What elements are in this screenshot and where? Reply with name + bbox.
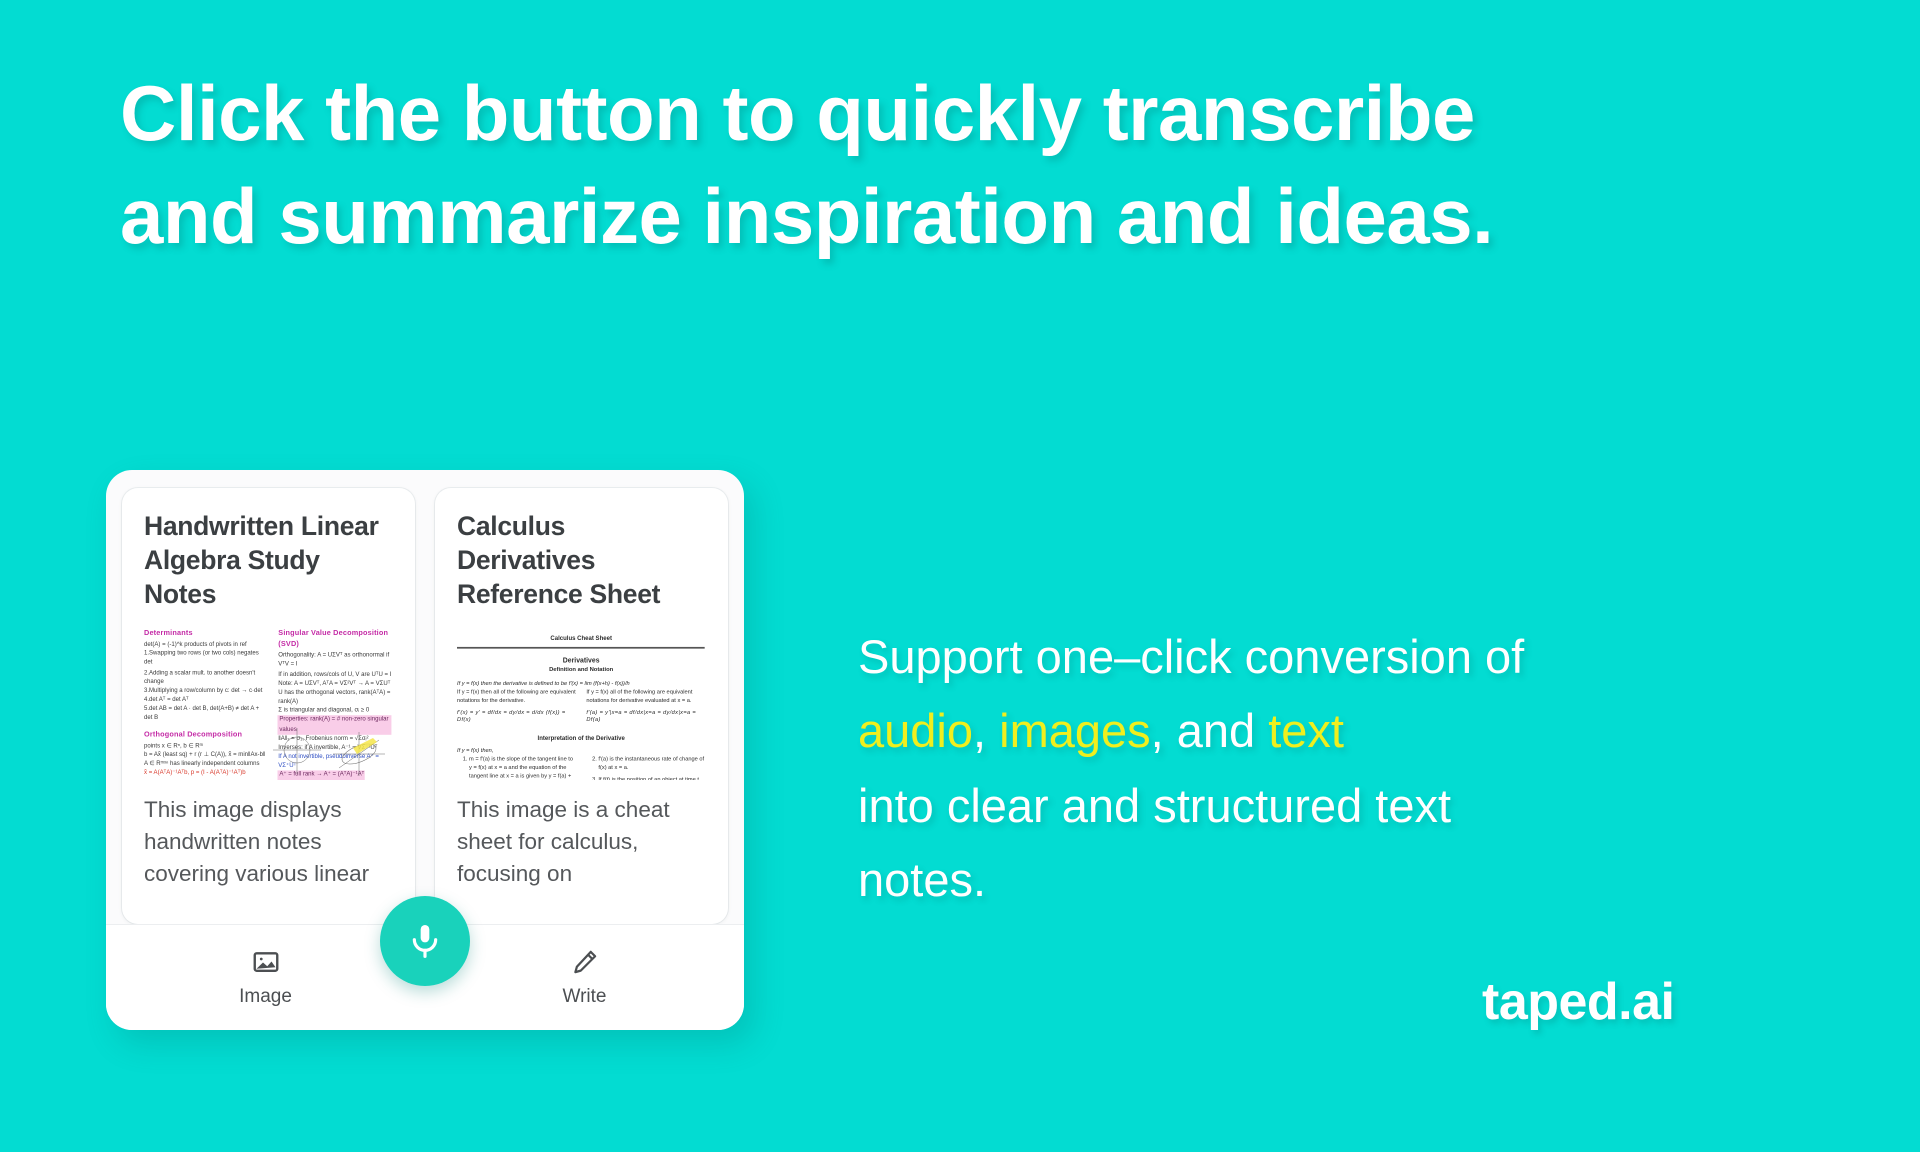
cs-subsection: Definition and Notation xyxy=(457,666,705,675)
calculus-cheat-sheet-thumbnail: Calculus Cheat Sheet Derivatives Definit… xyxy=(457,628,706,780)
axes-sketch-icon xyxy=(269,724,389,778)
copy-line-4: notes. xyxy=(858,843,1798,917)
hw-line: 3.Multiplying a row/column by c: det → c… xyxy=(144,686,268,695)
microphone-icon xyxy=(405,921,445,961)
hw-line: 1.Swapping two rows (or two cols) negate… xyxy=(144,649,268,667)
headline-line-2: and summarize inspiration and ideas. xyxy=(120,165,1840,268)
cs-interpretation-item: If f(t) is the position of an object at … xyxy=(598,775,705,779)
hw-line: 4.det Aᵀ = det Aᵀ xyxy=(144,695,268,704)
hw-heading: Determinants xyxy=(144,628,268,639)
image-button[interactable]: Image xyxy=(106,947,425,1008)
hw-line: U has the orthogonal vectors, rank(AᵀA) … xyxy=(278,688,392,706)
brand-logo: taped.ai xyxy=(1482,972,1675,1032)
headline-line-1: Click the button to quickly transcribe xyxy=(120,62,1840,165)
copy-sep-1: , xyxy=(973,704,999,757)
write-button-label: Write xyxy=(563,986,607,1008)
copy-line-1: Support one–click conversion of xyxy=(858,620,1798,694)
note-card-body: This image displays handwritten notes co… xyxy=(144,794,393,890)
microphone-record-button[interactable] xyxy=(380,896,470,986)
copy-sep-2: , and xyxy=(1151,704,1269,757)
cs-interpretation-item: m = f'(a) is the slope of the tangent li… xyxy=(469,756,576,780)
highlight-text: text xyxy=(1268,704,1344,757)
cs-equiv-label: If y = f(x) then all of the following ar… xyxy=(457,688,576,705)
note-card[interactable]: Calculus Derivatives Reference Sheet Cal… xyxy=(435,488,728,924)
image-icon xyxy=(251,947,281,977)
app-mockup: Handwritten Linear Algebra Study Notes D… xyxy=(106,470,744,1030)
image-button-label: Image xyxy=(239,986,292,1008)
marketing-copy: Support one–click conversion of audio, i… xyxy=(858,620,1798,917)
hw-heading: Singular Value Decomposition (SVD) xyxy=(278,628,392,650)
cs-definition: If y = f(x) then the derivative is defin… xyxy=(457,680,705,688)
handwritten-linear-algebra-thumbnail: Determinants det(A) = (-1)^k products of… xyxy=(144,628,393,780)
cs-interpretation-list: f'(a) is the instantaneous rate of chang… xyxy=(586,756,705,780)
note-card-title: Calculus Derivatives Reference Sheet xyxy=(457,510,706,612)
hw-line: points x ∈ Rⁿ, b ∈ Rᵐ xyxy=(144,742,268,751)
cs-interpretation-intro: If y = f(x) then, xyxy=(457,747,705,755)
hw-line: A ∈ Rᵐˣⁿ has linearly independent column… xyxy=(144,760,268,769)
highlight-images: images xyxy=(999,704,1151,757)
note-card-title: Handwritten Linear Algebra Study Notes xyxy=(144,510,393,612)
cs-equiv-label: If y = f(x) all of the following are equ… xyxy=(586,688,705,705)
highlight-audio: audio xyxy=(858,704,973,757)
cs-interpretation-item: f'(a) is the instantaneous rate of chang… xyxy=(598,756,705,773)
cs-sheet-title: Calculus Cheat Sheet xyxy=(457,635,705,648)
hw-line: If in addition, rows/cols of U, V are Uᵀ… xyxy=(278,670,392,679)
hw-line: det(A) = (-1)^k products of pivots in re… xyxy=(144,640,268,649)
hw-line: 5.det AB = det A · det B, det(A+B) ≠ det… xyxy=(144,705,268,723)
note-card[interactable]: Handwritten Linear Algebra Study Notes D… xyxy=(122,488,415,924)
cs-section: Derivatives xyxy=(457,655,705,665)
hw-line: 2.Adding a scalar mult. to another doesn… xyxy=(144,668,268,686)
hw-line: Σ is triangular and diagonal, σᵢ ≥ 0 xyxy=(278,707,392,716)
note-card-body: This image is a cheat sheet for calculus… xyxy=(457,794,706,890)
hw-line: Orthogonality: A = UΣVᵀ as orthonormal i… xyxy=(278,651,392,669)
hw-line: projection matrix onto C(A): P = A(AᵀA)⁻… xyxy=(144,778,268,779)
copy-line-2: audio, images, and text xyxy=(858,694,1798,768)
hw-line: Note: A = UΣVᵀ, AᵀA = VΣ²Vᵀ → A = VΣUᵀ xyxy=(278,679,392,688)
note-cards-area: Handwritten Linear Algebra Study Notes D… xyxy=(106,470,744,924)
cs-equiv-formula: f'(a) = y'|x=a = df/dx|x=a = dy/dx|x=a =… xyxy=(586,708,705,725)
copy-line-3: into clear and structured text xyxy=(858,769,1798,843)
cs-equiv-formula: f'(x) = y' = df/dx = dy/dx = d/dx (f(x))… xyxy=(457,708,576,725)
hw-line: x̂ = A(AᵀA)⁻¹Aᵀb, p = (I - A(AᵀA)⁻¹Aᵀ)b xyxy=(144,769,268,778)
page-title: Click the button to quickly transcribe a… xyxy=(120,62,1840,268)
hw-line: b = Ax̂ (least sq) + r (r ⊥ C(A)), x̂ = … xyxy=(144,751,268,760)
hw-heading: Orthogonal Decomposition xyxy=(144,729,268,740)
cs-interpretation-list: m = f'(a) is the slope of the tangent li… xyxy=(457,756,576,780)
cs-interpretation-heading: Interpretation of the Derivative xyxy=(457,734,705,743)
pencil-icon xyxy=(570,947,600,977)
write-button[interactable]: Write xyxy=(425,947,744,1008)
